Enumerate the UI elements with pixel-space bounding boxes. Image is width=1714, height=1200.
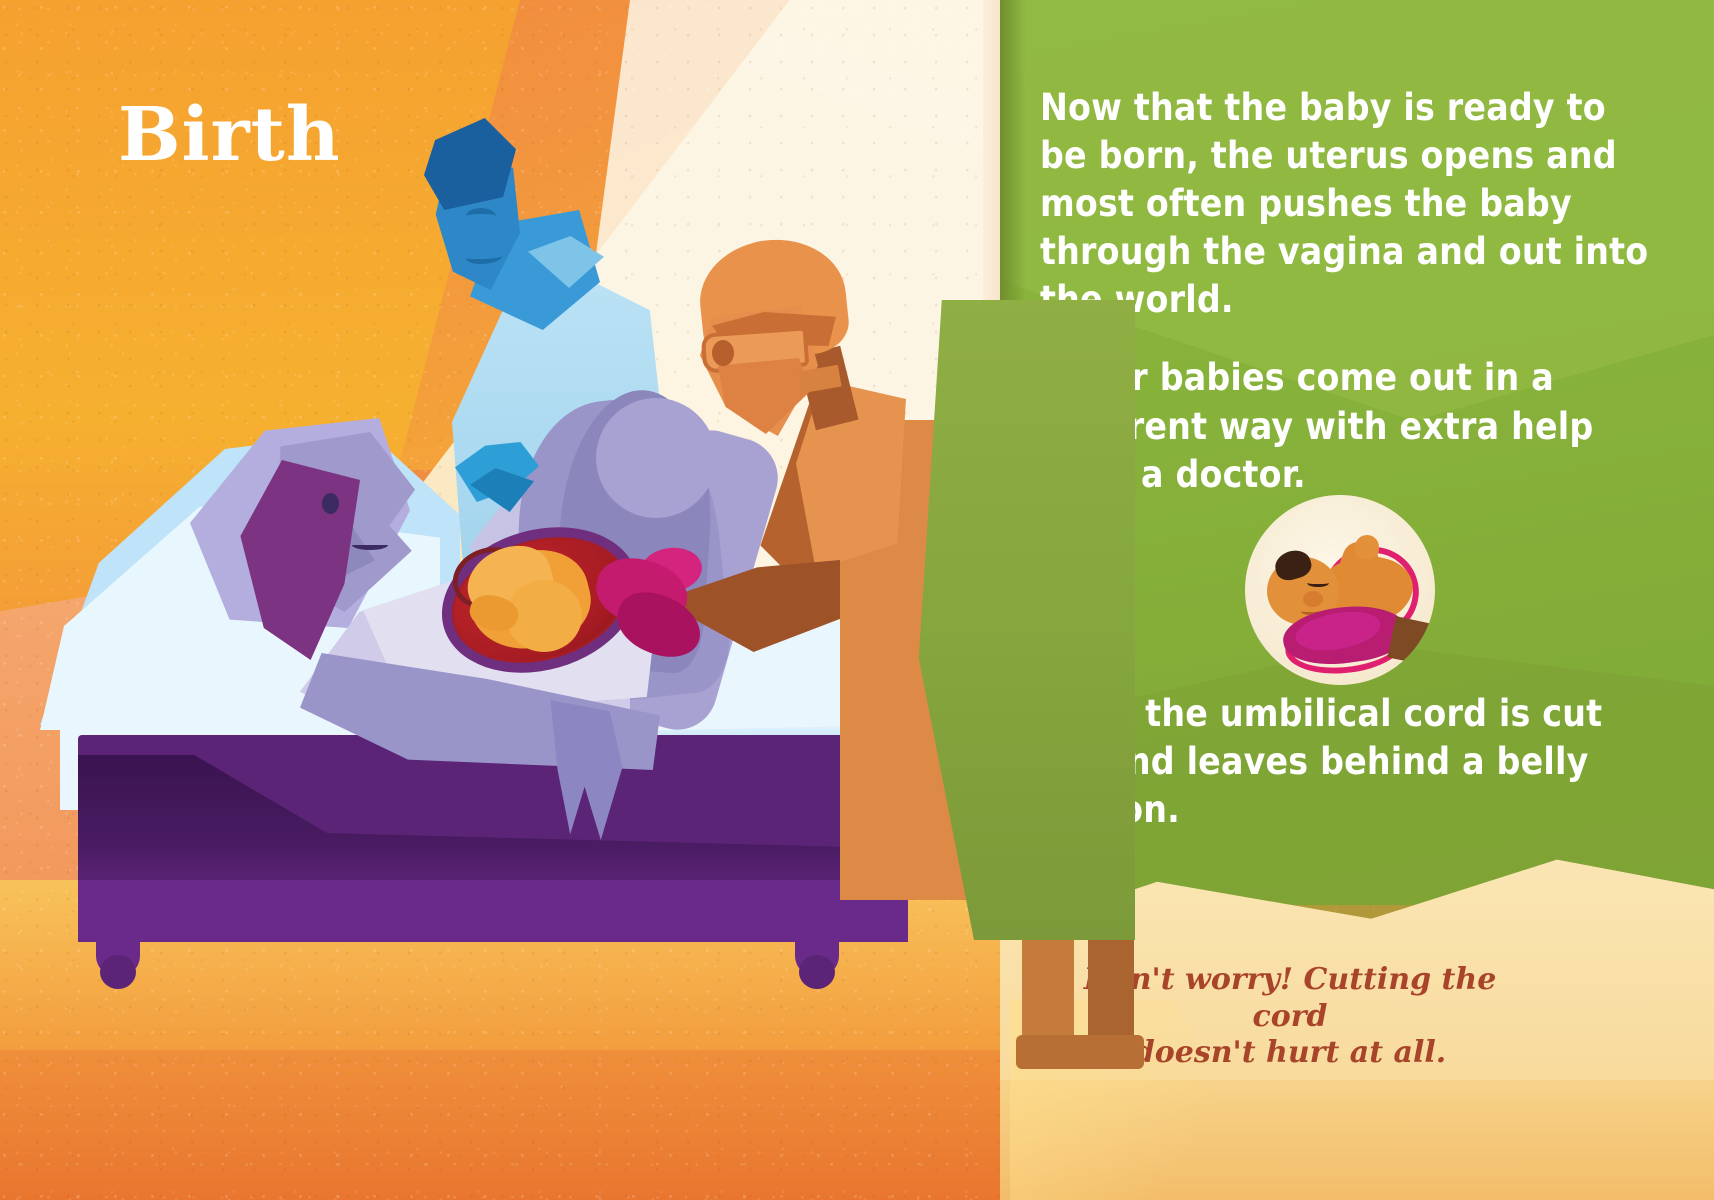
birthing-person-eye xyxy=(322,493,339,514)
bed-foot-right xyxy=(799,955,835,989)
newborn-cheek xyxy=(1303,591,1323,607)
book-page: Birth xyxy=(0,0,1714,1200)
newborn-eye xyxy=(1307,579,1329,587)
page-title: Birth xyxy=(118,98,341,172)
partner-eyebrow xyxy=(466,208,496,224)
birthing-person-knee xyxy=(596,398,716,518)
bed-foot-left xyxy=(100,955,136,989)
inset-circle-newborn xyxy=(1245,495,1435,685)
birthing-person-mouth xyxy=(352,540,388,550)
newborn-hand xyxy=(1355,535,1379,559)
bed-skirt xyxy=(78,880,908,942)
doctor-goggle-lens xyxy=(712,340,734,366)
doctor-shoe xyxy=(1016,1035,1144,1069)
background-bottom-deep xyxy=(0,1050,1090,1200)
body-paragraph-1: Now that the baby is ready to be born, t… xyxy=(1040,84,1650,324)
